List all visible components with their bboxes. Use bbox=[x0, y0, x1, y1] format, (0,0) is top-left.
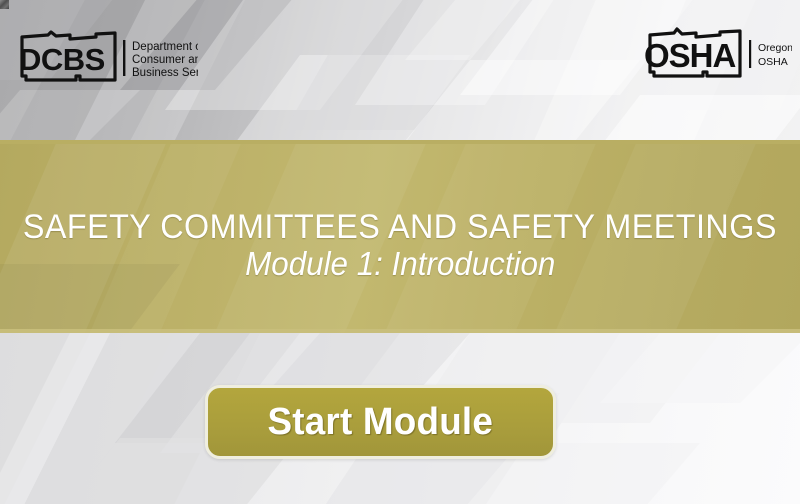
page-subtitle: Module 1: Introduction bbox=[245, 247, 555, 282]
dcbs-logo: DCBS Department of Consumer and Business… bbox=[18, 30, 198, 86]
osha-logo: OSHA Oregon OSHA bbox=[644, 26, 792, 84]
corner-artifact bbox=[0, 0, 9, 9]
title-band: SAFETY COMMITTEES AND SAFETY MEETINGS Mo… bbox=[0, 144, 800, 333]
osha-acronym: OSHA bbox=[644, 37, 736, 74]
logo-divider bbox=[749, 40, 751, 68]
osha-logo-svg: OSHA Oregon OSHA bbox=[644, 26, 792, 84]
dcbs-acronym: DCBS bbox=[19, 42, 105, 77]
header-banner: DCBS Department of Consumer and Business… bbox=[0, 0, 800, 144]
dcbs-tagline-line2: Consumer and bbox=[132, 54, 198, 66]
dcbs-tagline-line3: Business Services bbox=[132, 67, 198, 79]
logo-divider bbox=[123, 40, 125, 76]
start-module-label: Start Module bbox=[268, 401, 494, 444]
title-block: SAFETY COMMITTEES AND SAFETY MEETINGS Mo… bbox=[0, 144, 800, 333]
start-module-button[interactable]: Start Module bbox=[205, 385, 556, 459]
slide-root: DCBS Department of Consumer and Business… bbox=[0, 0, 800, 504]
osha-tagline-line1: Oregon bbox=[758, 42, 792, 54]
dcbs-tagline-line1: Department of bbox=[132, 41, 198, 53]
osha-tagline-line2: OSHA bbox=[758, 56, 788, 68]
dcbs-logo-svg: DCBS Department of Consumer and Business… bbox=[18, 30, 198, 86]
page-title: SAFETY COMMITTEES AND SAFETY MEETINGS bbox=[23, 210, 777, 245]
